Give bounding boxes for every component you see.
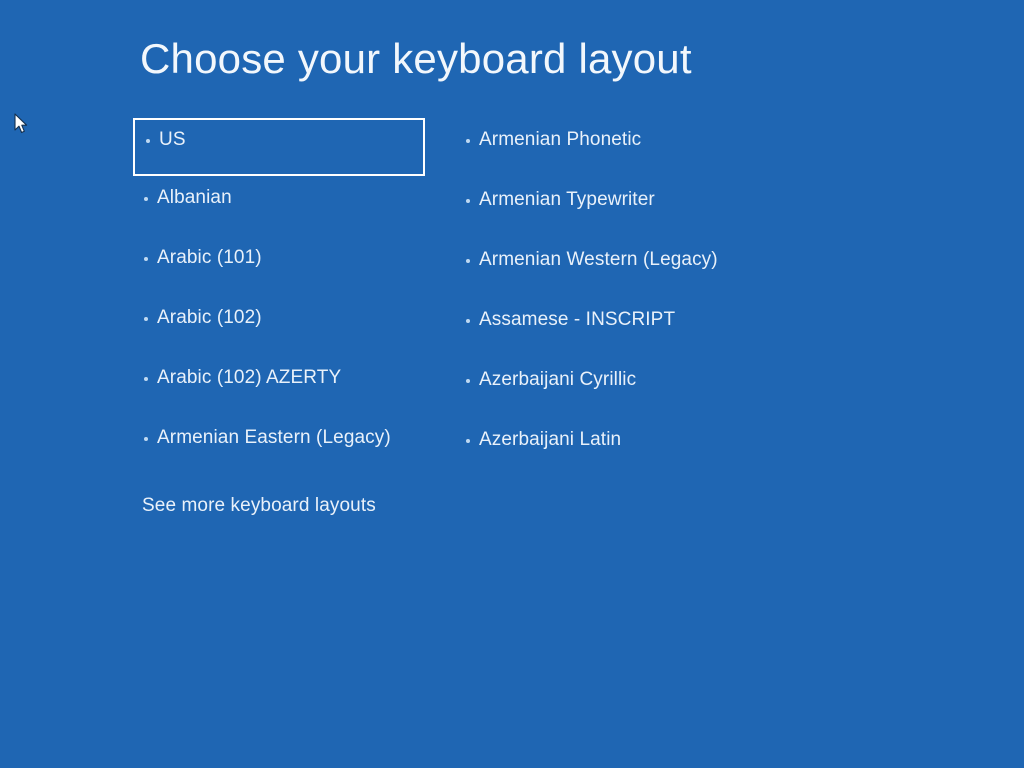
layout-option-label: Arabic (102) [157,306,262,330]
layout-option-label: Azerbaijani Latin [479,428,621,452]
layout-option-label: Armenian Eastern (Legacy) [157,426,391,450]
bullet-icon [466,199,470,203]
layout-option-label: Armenian Western (Legacy) [479,248,718,272]
layout-option-arabic-102[interactable]: Arabic (102) [133,296,425,356]
bullet-icon [144,197,148,201]
layout-option-label: Albanian [157,186,232,210]
layout-option-label: Assamese - INSCRIPT [479,308,675,332]
layout-option-armenian-western-legacy[interactable]: Armenian Western (Legacy) [464,238,794,298]
bullet-icon [466,379,470,383]
layout-option-azerbaijani-latin[interactable]: Azerbaijani Latin [464,418,794,478]
bullet-icon [466,259,470,263]
page-title: Choose your keyboard layout [140,38,692,80]
layout-option-armenian-eastern-legacy[interactable]: Armenian Eastern (Legacy) [133,416,425,476]
keyboard-layout-column-right: Armenian Phonetic Armenian Typewriter Ar… [464,118,794,478]
layout-option-label: Arabic (101) [157,246,262,270]
layout-option-label: Armenian Typewriter [479,188,655,212]
see-more-keyboard-layouts-link[interactable]: See more keyboard layouts [142,494,376,518]
layout-option-arabic-102-azerty[interactable]: Arabic (102) AZERTY [133,356,425,416]
layout-option-label: Arabic (102) AZERTY [157,366,341,390]
bullet-icon [466,139,470,143]
bullet-icon [466,319,470,323]
bullet-icon [146,139,150,143]
layout-option-arabic-101[interactable]: Arabic (101) [133,236,425,296]
bullet-icon [466,439,470,443]
bullet-icon [144,317,148,321]
bullet-icon [144,257,148,261]
arrow-pointer-icon [14,113,28,135]
layout-option-armenian-phonetic[interactable]: Armenian Phonetic [464,118,794,178]
layout-option-label: US [159,128,186,152]
layout-option-assamese-inscript[interactable]: Assamese - INSCRIPT [464,298,794,358]
layout-option-label: Azerbaijani Cyrillic [479,368,636,392]
bullet-icon [144,377,148,381]
bullet-icon [144,437,148,441]
layout-option-armenian-typewriter[interactable]: Armenian Typewriter [464,178,794,238]
layout-option-label: Armenian Phonetic [479,128,641,152]
layout-option-azerbaijani-cyrillic[interactable]: Azerbaijani Cyrillic [464,358,794,418]
layout-option-albanian[interactable]: Albanian [133,176,425,236]
layout-option-us[interactable]: US [133,118,425,176]
keyboard-layout-column-left: US Albanian Arabic (101) Arabic (102) Ar… [133,118,425,476]
